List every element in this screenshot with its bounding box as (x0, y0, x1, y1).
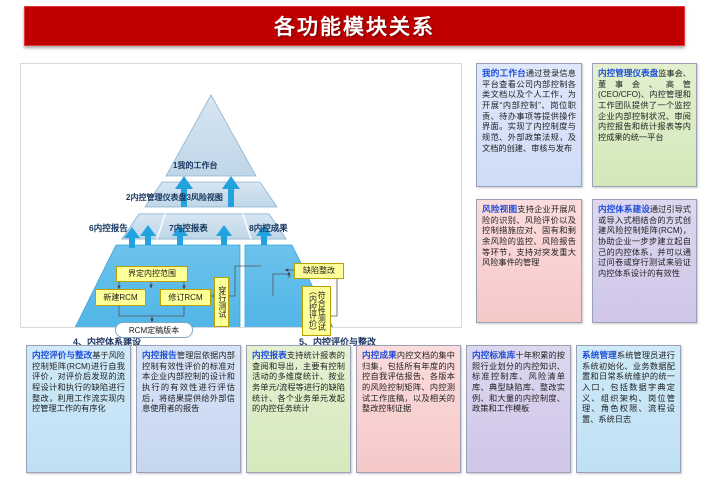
panel-report[interactable]: 内控报告管理层依据内部控制有效性评价的标准对本企业内部控制的设计和执行的有效性进… (136, 345, 241, 473)
panel-risk-view[interactable]: 风险视图支持企业开展风险的识别、风险评价以及控制措施应对、固有和剩余风险的监控、… (476, 199, 582, 323)
page-title: 各功能模块关系 (274, 11, 435, 41)
pyramid-tier-1[interactable] (166, 95, 256, 176)
panel-results[interactable]: 内控成果内控文档的集中归集，包括所有年度的内控自我评估报告、各版本的风险控制矩阵… (356, 345, 461, 473)
page-title-banner: 各功能模块关系 (24, 6, 685, 46)
pyramid-diagram-container: 1我的工作台 2内控管理仪表盘3风险视图 6内控报告 7内控报表 8内控成果 4… (20, 63, 462, 328)
panel-report-body: 管理层依据内部控制有效性评价的标准对本企业内部控制的设计和执行的有效性进行评估后… (142, 351, 235, 413)
panel-system-build[interactable]: 内控体系建设通过引导式或导入式相结合的方式创建风险控制矩阵(RCM)，协助企业一… (592, 199, 697, 323)
panel-workbench-body: 通过登录信息平台查看公司内部控制各类文档以及个人工作，为开展“内部控制”、岗位职… (482, 69, 576, 153)
panel-report-title: 内控报告 (142, 350, 177, 360)
flow-box-defect-rectification[interactable]: 缺陷整改 (294, 263, 344, 279)
panel-sysadmin-body: 系统管理员进行系统初始化、业务数据配置和日常系统维护的统一入口，包括数据字典定义… (582, 351, 675, 424)
flow-box-define-scope[interactable]: 界定内控范围 (116, 266, 188, 282)
panel-eval-rectification[interactable]: 内控评价与整改基于风险控制矩阵(RCM)进行自我评价，对评价后发现的流程设计和执… (26, 345, 131, 473)
pyramid-svg (21, 64, 461, 327)
panel-statements[interactable]: 内控报表支持统计报表的查阅和导出，主要有控制活动的多维度统计、按业务单元/流程等… (246, 345, 351, 473)
panel-results-body: 内控文档的集中归集，包括所有年度的内控自我评估报告、各版本的风险控制矩阵、内控测… (362, 351, 455, 413)
panel-sysadmin-title: 系统管理 (582, 350, 617, 360)
panel-sysadmin[interactable]: 系统管理系统管理员进行系统初始化、业务数据配置和日常系统维护的统一入口，包括数据… (576, 345, 681, 473)
panel-results-title: 内控成果 (362, 350, 397, 360)
panel-statements-body: 支持统计报表的查阅和导出，主要有控制活动的多维度统计、按业务单元/流程等进行的缺… (252, 351, 345, 413)
flow-box-rcm-final[interactable]: RCM定稿版本 (115, 322, 193, 338)
flow-box-new-rcm[interactable]: 新建RCM (95, 289, 146, 306)
panel-workbench[interactable]: 我的工作台通过登录信息平台查看公司内部控制各类文档以及个人工作，为开展“内部控制… (476, 63, 582, 187)
panel-eval-rectification-body: 基于风险控制矩阵(RCM)进行自我评价，对评价后发现的流程设计和执行的缺陷进行整… (32, 351, 125, 413)
panel-risk-view-body: 支持企业开展风险的识别、风险评价以及控制措施应对、固有和剩余风险的监控、风险报告… (482, 205, 576, 267)
panel-dashboard-body: 监事会、董事会、高管(CEO/CFO)、内控管理和工作团队提供了一个监控企业内部… (598, 69, 691, 142)
flow-box-compliance-test[interactable]: 符合性测试（内控评价） (302, 286, 331, 336)
panel-standards[interactable]: 内控标准库十年积累的按照行业划分的内控知识、标准控制库、风险清单库、典型缺陷库、… (466, 345, 571, 473)
panel-statements-title: 内控报表 (252, 350, 287, 360)
panel-risk-view-title: 风险视图 (482, 204, 517, 214)
panel-system-build-title: 内控体系建设 (598, 204, 650, 214)
flow-box-revise-rcm[interactable]: 修订RCM (160, 289, 211, 306)
pyramid-tier-2[interactable] (145, 182, 277, 207)
panel-standards-body: 十年积累的按照行业划分的内控知识、标准控制库、风险清单库、典型缺陷库、整改实例、… (472, 351, 565, 413)
panel-eval-rectification-title: 内控评价与整改 (32, 350, 92, 360)
panel-workbench-title: 我的工作台 (482, 68, 526, 78)
flow-box-walkthrough-test[interactable]: 穿行测试 (214, 277, 229, 327)
panel-system-build-body: 通过引导式或导入式相结合的方式创建风险控制矩阵(RCM)，协助企业一步步建立起自… (598, 205, 691, 278)
panel-dashboard[interactable]: 内控管理仪表盘监事会、董事会、高管(CEO/CFO)、内控管理和工作团队提供了一… (592, 63, 697, 187)
panel-dashboard-title: 内控管理仪表盘 (598, 68, 658, 78)
panel-standards-title: 内控标准库 (472, 350, 515, 360)
